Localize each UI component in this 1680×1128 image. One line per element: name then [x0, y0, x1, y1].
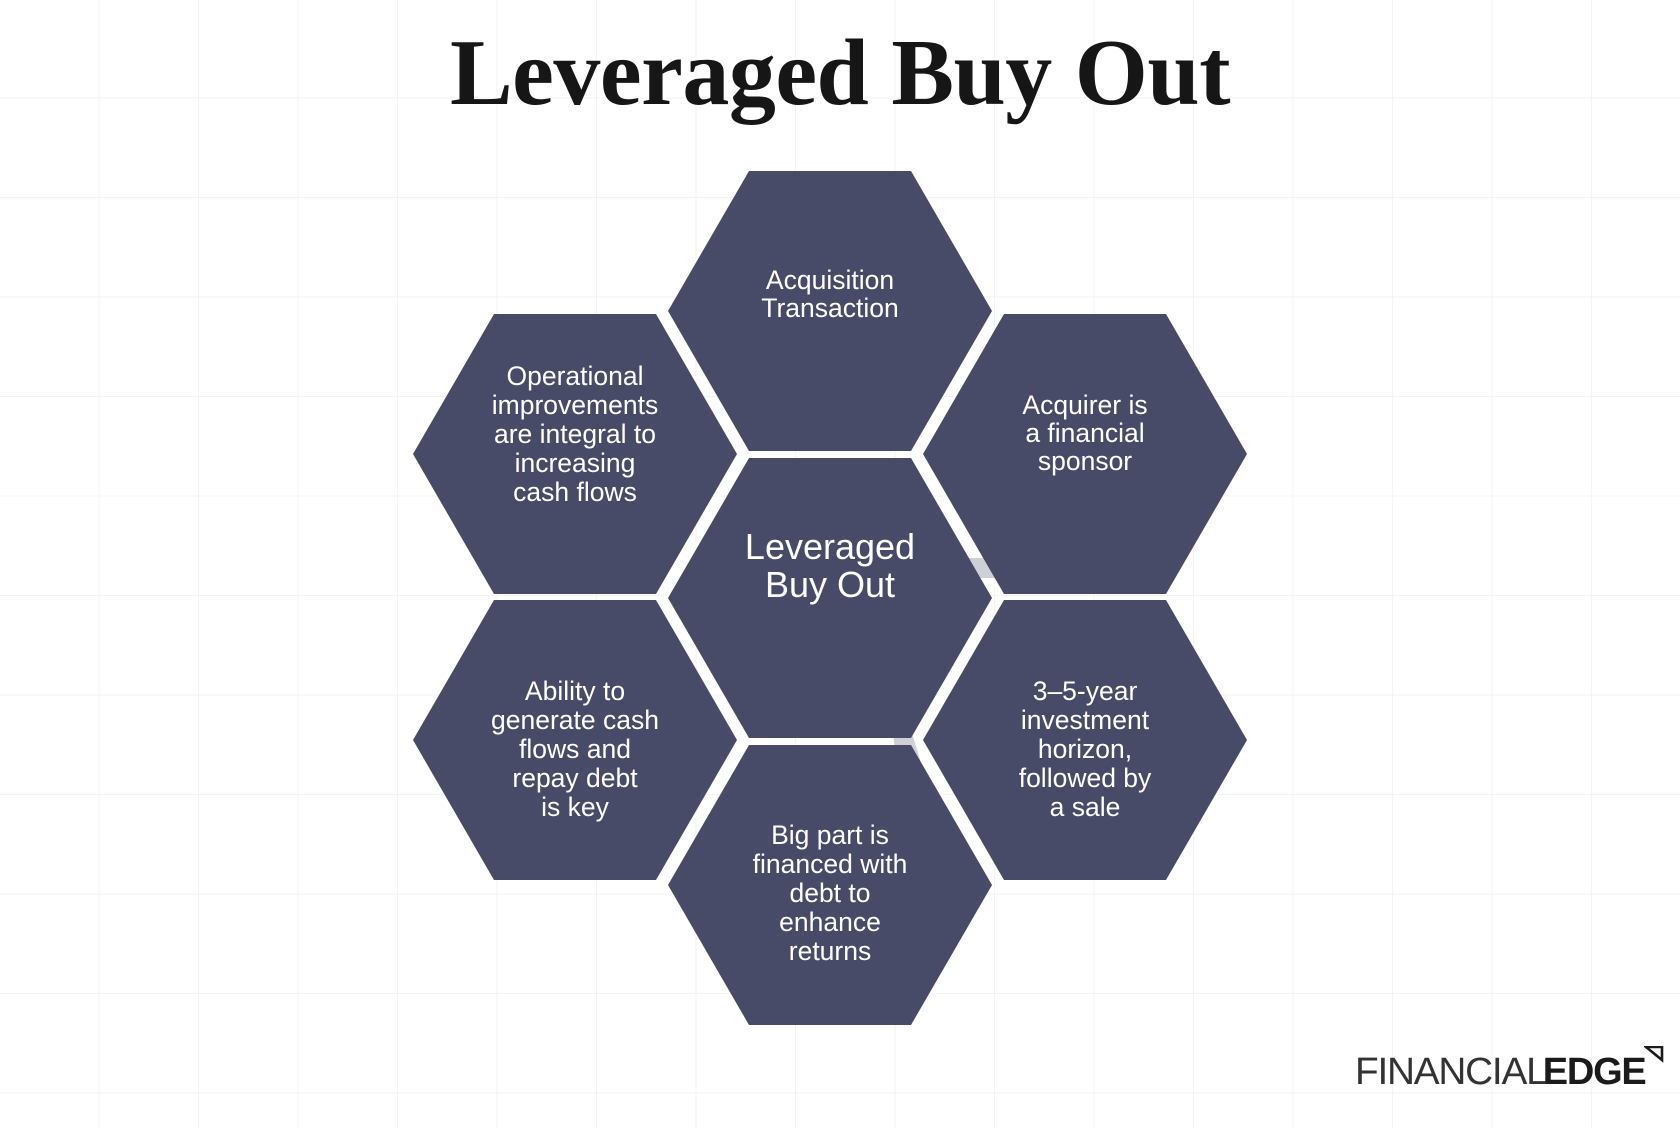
hex-label-line: Acquirer is [1022, 390, 1147, 420]
hex-acquisition-transaction[interactable]: Acquisition Transaction [668, 171, 992, 451]
hex-acquirer-financial-sponsor[interactable]: Acquirer is a financial sponsor [923, 314, 1247, 594]
hex-label-line: Transaction [761, 293, 898, 323]
hex-label-line: Big part is [771, 820, 889, 850]
hex-label-line: increasing [515, 448, 636, 478]
hex-debt-financed[interactable]: Big part is financed with debt to enhanc… [668, 745, 992, 1025]
hex-label-line: is key [541, 792, 609, 822]
hex-label-line: investment [1021, 705, 1150, 735]
hex-label-line: Operational [506, 361, 643, 391]
hex-label-line: are integral to [494, 419, 656, 449]
hex-label-line: sponsor [1038, 446, 1132, 476]
leveraged-buy-out-honeycomb-diagram: Acquisition Transaction Acquirer is a fi… [0, 0, 1680, 1128]
hex-label-line: returns [789, 936, 871, 966]
hex-label-line: enhance [779, 907, 881, 937]
slide-canvas: Leveraged Buy Out Acquisition Transactio… [0, 0, 1680, 1128]
hex-label-line: flows and [519, 734, 631, 764]
hex-label-line: cash flows [513, 477, 637, 507]
hex-label-line: debt to [789, 878, 870, 908]
hex-label-line: 3–5-year [1033, 676, 1138, 706]
hex-label-line: financed with [753, 849, 908, 879]
hex-label-line: Acquisition [766, 265, 894, 295]
logo-word-edge: EDGE [1543, 1052, 1646, 1092]
hex-label-line: repay debt [512, 763, 638, 793]
hex-label-line: followed by [1019, 763, 1152, 793]
hex-label-line: generate cash [491, 705, 659, 735]
hex-center-leveraged-buy-out[interactable]: Leveraged Buy Out [668, 458, 992, 738]
hex-cash-flow-repay-debt[interactable]: Ability to generate cash flows and repay… [413, 600, 737, 880]
logo-word-financial: FINANCIAL [1355, 1052, 1546, 1092]
hex-center-label-line: Leveraged [745, 526, 915, 567]
hex-label-line: a financial [1025, 418, 1144, 448]
hex-investment-horizon[interactable]: 3–5-year investment horizon, followed by… [923, 600, 1247, 880]
hex-center-label-line: Buy Out [765, 564, 895, 605]
financial-edge-logo: FINANCIAL EDGE [1355, 1052, 1664, 1098]
hex-label-line: improvements [492, 390, 658, 420]
hex-label-line: a sale [1050, 792, 1121, 822]
hex-label-line: Ability to [525, 676, 625, 706]
logo-corner-flag-icon [1646, 1052, 1664, 1092]
hex-label-line: horizon, [1038, 734, 1132, 764]
hex-operational-improvements[interactable]: Operational improvements are integral to… [413, 314, 737, 594]
